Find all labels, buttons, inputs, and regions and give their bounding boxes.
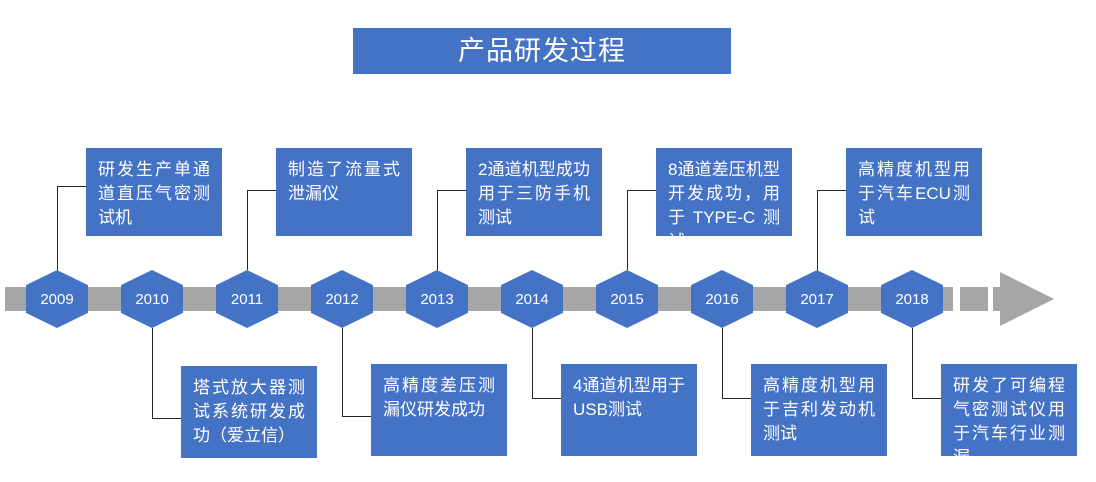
page-title: 产品研发过程 [458,38,626,65]
connector-2009-horizontal [57,186,86,187]
milestone-box-2012[interactable]: 高精度差压测漏仪研发成功 [371,364,507,456]
timeline-node-2017[interactable]: 2017 [786,270,848,328]
milestone-box-2011[interactable]: 制造了流量式泄漏仪 [276,148,412,236]
connector-2013-vertical [437,190,438,270]
connector-2016-vertical [722,328,723,398]
connector-2018-vertical [912,328,913,398]
connector-2011-vertical [247,190,248,270]
milestone-box-2016[interactable]: 高精度机型用于吉利发动机测试 [751,364,887,456]
year-label: 2013 [406,270,468,328]
milestone-box-2018[interactable]: 研发了可编程气密测试仪用于汽车行业测漏 [941,364,1077,456]
connector-2017-horizontal [817,190,846,191]
connector-2015-vertical [627,190,628,270]
milestone-box-2014[interactable]: 4通道机型用于USB测试 [561,364,697,456]
year-label: 2017 [786,270,848,328]
connector-2012-horizontal [342,416,371,417]
timeline-node-2013[interactable]: 2013 [406,270,468,328]
timeline-node-2015[interactable]: 2015 [596,270,658,328]
timeline-node-2009[interactable]: 2009 [26,270,88,328]
timeline-arrow-icon [1000,272,1054,326]
year-label: 2015 [596,270,658,328]
connector-2017-vertical [817,190,818,270]
timeline-node-2014[interactable]: 2014 [501,270,563,328]
title-banner: 产品研发过程 [353,28,731,74]
connector-2010-vertical [152,328,153,418]
year-label: 2009 [26,270,88,328]
milestone-box-2010[interactable]: 塔式放大器测试系统研发成功（爱立信） [181,366,317,458]
year-label: 2010 [121,270,183,328]
connector-2016-horizontal [722,398,751,399]
connector-2014-horizontal [532,398,561,399]
connector-2015-horizontal [627,190,656,191]
milestone-box-2013[interactable]: 2通道机型成功用于三防手机测试 [466,148,602,236]
connector-2012-vertical [342,328,343,416]
timeline-node-2016[interactable]: 2016 [691,270,753,328]
connector-2013-horizontal [437,190,466,191]
timeline-stub-left [5,287,27,311]
timeline-dash-1 [960,287,988,311]
year-label: 2014 [501,270,563,328]
timeline-node-2012[interactable]: 2012 [311,270,373,328]
timeline-infographic: 产品研发过程 2009 2010 2011 2012 2013 2014 201… [0,0,1096,482]
year-label: 2012 [311,270,373,328]
milestone-box-2017[interactable]: 高精度机型用于汽车ECU测试 [846,148,982,236]
milestone-box-2009[interactable]: 研发生产单通道直压气密测试机 [86,148,222,236]
connector-2010-horizontal [152,418,181,419]
year-label: 2018 [881,270,943,328]
connector-2011-horizontal [247,190,276,191]
timeline-node-2018[interactable]: 2018 [881,270,943,328]
year-label: 2011 [216,270,278,328]
connector-2018-horizontal [912,398,941,399]
timeline-node-2010[interactable]: 2010 [121,270,183,328]
year-label: 2016 [691,270,753,328]
milestone-box-2015[interactable]: 8通道差压机型开发成功，用于TYPE-C测试 [656,148,792,236]
connector-2009-vertical [57,186,58,270]
timeline-node-2011[interactable]: 2011 [216,270,278,328]
connector-2014-vertical [532,328,533,398]
